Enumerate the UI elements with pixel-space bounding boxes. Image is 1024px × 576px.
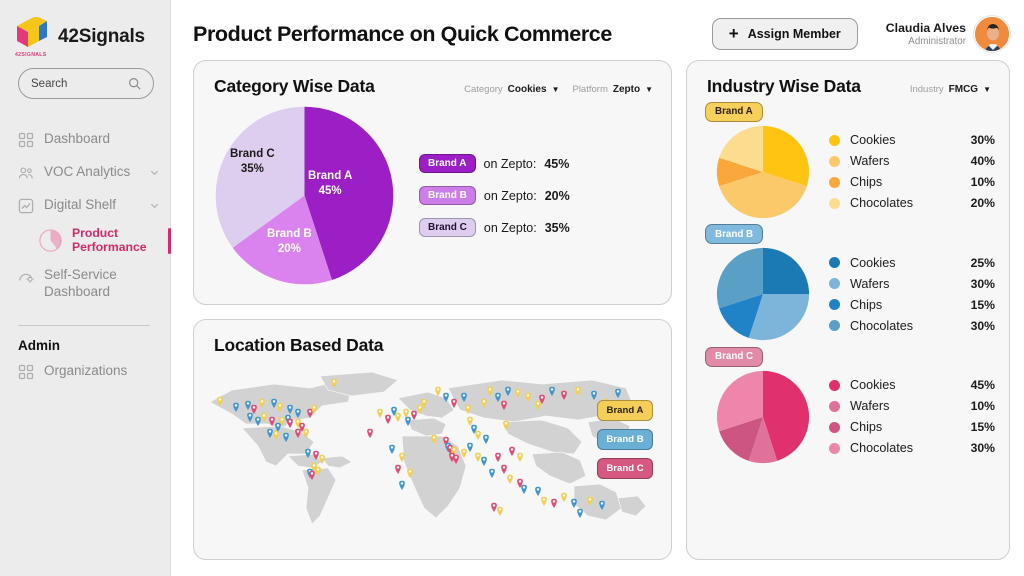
industry-brand-row: Cookies45%Wafers10%Chips15%Chocolates30% (705, 369, 995, 465)
map-pin-a[interactable] (467, 417, 473, 426)
map-pin-a[interactable] (517, 453, 523, 462)
map-pin-b[interactable] (389, 445, 395, 454)
grid-icon (18, 132, 34, 148)
industry-legend: Cookies25%Wafers30%Chips15%Chocolates30% (829, 256, 995, 333)
industry-pie-chart (715, 124, 811, 220)
brand-badge[interactable]: Brand B (705, 224, 763, 244)
map-pin-a[interactable] (475, 431, 481, 440)
map-pin-c[interactable] (491, 503, 497, 512)
legend-color-dot (829, 320, 840, 331)
industry-legend: Cookies30%Wafers40%Chips10%Chocolates20% (829, 133, 995, 210)
legend-percent: 15% (971, 298, 995, 312)
map-legend-brand-c[interactable]: Brand C (597, 458, 653, 479)
legend-row: Chocolates30% (829, 441, 995, 455)
legend-label: Chips (850, 175, 882, 189)
grid-icon (18, 364, 34, 380)
user-name: Claudia Alves (886, 21, 966, 35)
world-map[interactable]: Brand A Brand B Brand C (194, 358, 671, 543)
map-pin-b[interactable] (521, 485, 527, 494)
industry-filters: Industry FMCG ▼ (910, 84, 991, 95)
42signals-logo-icon: 42SIGNALS (14, 17, 50, 57)
chart-line-icon (18, 198, 34, 214)
map-landmass (532, 452, 586, 484)
people-icon (18, 165, 34, 181)
legend-row: Cookies30% (829, 133, 995, 147)
industry-pie-chart (715, 246, 811, 342)
legend-label: Wafers (850, 154, 889, 168)
search-icon (128, 77, 141, 90)
filter-value: FMCG (949, 84, 978, 95)
sidebar-item-self-service-dashboard[interactable]: Self-Service Dashboard (0, 259, 170, 309)
pie-slice-label-brand-b: Brand B20% (267, 227, 312, 257)
legend-percent: 25% (971, 256, 995, 270)
map-pin-a[interactable] (395, 413, 401, 422)
category-pie-chart: Brand A45% Brand B20% Brand C35% (212, 103, 397, 288)
legend-row: Chips15% (829, 298, 995, 312)
brand-logo-row[interactable]: 42SIGNALS 42Signals (0, 10, 170, 60)
dashboard-content: Category Wise Data Category Cookies ▼ Pl… (193, 60, 1010, 560)
pie-slice-label-brand-a: Brand A45% (308, 169, 352, 199)
industry-card-header: Industry Wise Data Industry FMCG ▼ (687, 61, 1009, 97)
legend-row: Wafers40% (829, 154, 995, 168)
search-placeholder: Search (31, 78, 67, 90)
filter-label: Industry (910, 84, 944, 95)
legend-row: Chips15% (829, 420, 995, 434)
industry-pie-chart (715, 369, 811, 465)
user-role: Administrator (886, 36, 966, 47)
map-pin-a[interactable] (561, 493, 567, 502)
category-card-header: Category Wise Data Category Cookies ▼ Pl… (194, 61, 671, 97)
location-based-data-card: Location Based Data Brand A Brand B Bran… (193, 319, 672, 560)
brand-name: 42Signals (58, 26, 145, 48)
category-card-body: Brand A45% Brand B20% Brand C35% Brand A… (194, 97, 671, 288)
category-filter-dropdown[interactable]: Category Cookies ▼ (464, 84, 559, 95)
search-input[interactable]: Search (18, 68, 154, 99)
legend-percent: 30% (971, 441, 995, 455)
pie-icon (38, 228, 63, 253)
sidebar-item-label: Digital Shelf (44, 197, 116, 214)
category-filters: Category Cookies ▼ Platform Zepto ▼ (464, 84, 653, 95)
legend-percent: 45% (971, 378, 995, 392)
legend-percent: 40% (971, 154, 995, 168)
legend-label: Chocolates (850, 196, 913, 210)
legend-row: Chocolates20% (829, 196, 995, 210)
chevron-down-icon[interactable] (149, 199, 160, 210)
right-column: Industry Wise Data Industry FMCG ▼ Brand… (686, 60, 1010, 560)
pie-slice (763, 248, 809, 294)
legend-percent: 20% (545, 189, 570, 203)
map-pin-b[interactable] (571, 499, 577, 508)
platform-filter-dropdown[interactable]: Platform Zepto ▼ (572, 84, 653, 95)
legend-color-dot (829, 380, 840, 391)
legend-label: Chips (850, 420, 882, 434)
plus-icon: + (729, 25, 739, 42)
sidebar-item-digital-shelf[interactable]: Digital Shelf (0, 189, 170, 222)
legend-label: Cookies (850, 133, 896, 147)
legend-color-dot (829, 299, 840, 310)
map-pin-c[interactable] (367, 429, 373, 438)
page-title: Product Performance on Quick Commerce (193, 22, 612, 47)
map-pin-a[interactable] (507, 475, 513, 484)
map-landmass (407, 418, 446, 436)
legend-color-dot (829, 135, 840, 146)
legend-text: on Zepto: (484, 221, 537, 235)
legend-percent: 20% (971, 196, 995, 210)
map-pin-a[interactable] (377, 409, 383, 418)
industry-brand-block: Brand BCookies25%Wafers30%Chips15%Chocol… (687, 220, 1009, 343)
map-pin-c[interactable] (287, 419, 293, 428)
legend-color-dot (829, 257, 840, 268)
legend-percent: 15% (971, 420, 995, 434)
brand-badge: Brand B (419, 186, 476, 205)
logo-caption: 42SIGNALS (15, 52, 47, 58)
app-root: 42SIGNALS 42Signals Search Dashboa (0, 0, 1024, 576)
legend-row: Wafers30% (829, 277, 995, 291)
map-legend: Brand A Brand B Brand C (597, 400, 653, 479)
dashboard-gear-icon (18, 268, 34, 284)
chevron-down-icon: ▼ (645, 85, 653, 94)
filter-value: Cookies (508, 84, 547, 95)
map-landmass (322, 456, 352, 468)
brand-badge[interactable]: Brand C (705, 347, 763, 367)
main-content: Product Performance on Quick Commerce + … (171, 0, 1024, 576)
map-pin-b[interactable] (535, 487, 541, 496)
industry-brand-block: Brand CCookies45%Wafers10%Chips15%Chocol… (687, 342, 1009, 465)
map-legend-brand-b[interactable]: Brand B (597, 429, 653, 450)
sidebar-item-label: Organizations (44, 363, 127, 380)
industry-brand-row: Cookies25%Wafers30%Chips15%Chocolates30% (705, 246, 995, 342)
industry-brand-blocks: Brand ACookies30%Wafers40%Chips10%Chocol… (687, 97, 1009, 465)
legend-text: on Zepto: (484, 157, 537, 171)
map-pin-c[interactable] (551, 499, 557, 508)
sidebar-item-product-performance[interactable]: Product Performance (0, 222, 170, 259)
sidebar-item-label: VOC Analytics (44, 164, 130, 181)
chevron-down-icon: ▼ (983, 85, 991, 94)
map-pin-b[interactable] (467, 443, 473, 452)
sidebar-item-label: Self-Service Dashboard (44, 267, 160, 301)
legend-color-dot (829, 198, 840, 209)
industry-brand-row: Cookies30%Wafers40%Chips10%Chocolates20% (705, 124, 995, 220)
brand-badge[interactable]: Brand A (705, 102, 763, 122)
map-landmass (302, 468, 336, 524)
legend-row: Chips10% (829, 175, 995, 189)
sidebar-item-label: Product Performance (72, 226, 160, 255)
location-card-header: Location Based Data (194, 320, 671, 356)
map-pin-c[interactable] (495, 453, 501, 462)
avatar[interactable] (974, 16, 1010, 52)
legend-color-dot (829, 443, 840, 454)
map-pin-a[interactable] (541, 497, 547, 506)
legend-row: Brand B on Zepto: 20% (419, 186, 570, 205)
map-pin-c[interactable] (395, 465, 401, 474)
map-pin-b[interactable] (577, 509, 583, 518)
legend-percent: 30% (971, 277, 995, 291)
legend-row: Brand A on Zepto: 45% (419, 154, 570, 173)
legend-row: Chocolates30% (829, 319, 995, 333)
map-pin-b[interactable] (483, 435, 489, 444)
legend-label: Wafers (850, 277, 889, 291)
map-pin-b[interactable] (489, 469, 495, 478)
legend-label: Chips (850, 298, 882, 312)
map-legend-brand-a[interactable]: Brand A (597, 400, 653, 421)
brand-badge: Brand A (419, 154, 476, 173)
industry-brand-block: Brand ACookies30%Wafers40%Chips10%Chocol… (687, 97, 1009, 220)
sidebar-section-admin: Admin (0, 326, 170, 355)
category-card-title: Category Wise Data (214, 76, 375, 97)
legend-label: Cookies (850, 256, 896, 270)
legend-label: Cookies (850, 378, 896, 392)
sidebar-item-label: Dashboard (44, 131, 110, 148)
legend-color-dot (829, 156, 840, 167)
map-pin-a[interactable] (497, 507, 503, 516)
industry-legend: Cookies45%Wafers10%Chips15%Chocolates30% (829, 378, 995, 455)
pie-slice-label-brand-c: Brand C35% (230, 147, 275, 177)
map-pin-c[interactable] (509, 447, 515, 456)
sidebar-item-organizations[interactable]: Organizations (0, 355, 170, 388)
legend-percent: 30% (971, 319, 995, 333)
location-card-title: Location Based Data (214, 335, 383, 356)
legend-percent: 10% (971, 175, 995, 189)
brand-badge: Brand C (419, 218, 476, 237)
legend-row: Brand C on Zepto: 35% (419, 218, 570, 237)
legend-label: Chocolates (850, 319, 913, 333)
chevron-down-icon[interactable] (149, 166, 160, 177)
industry-filter-dropdown[interactable]: Industry FMCG ▼ (910, 84, 991, 95)
legend-color-dot (829, 422, 840, 433)
sidebar-nav: Dashboard VOC Analytics (0, 123, 170, 388)
user-profile[interactable]: Claudia Alves Administrator (886, 16, 1010, 52)
map-pin-a[interactable] (403, 409, 409, 418)
legend-row: Wafers10% (829, 399, 995, 413)
map-pin-b[interactable] (255, 417, 261, 426)
legend-label: Chocolates (850, 441, 913, 455)
filter-value: Zepto (613, 84, 640, 95)
industry-wise-data-card: Industry Wise Data Industry FMCG ▼ Brand… (686, 60, 1010, 560)
sidebar-item-dashboard[interactable]: Dashboard (0, 123, 170, 156)
map-pin-c[interactable] (501, 465, 507, 474)
sidebar-item-voc-analytics[interactable]: VOC Analytics (0, 156, 170, 189)
map-pin-c[interactable] (385, 415, 391, 424)
legend-color-dot (829, 177, 840, 188)
left-column: Category Wise Data Category Cookies ▼ Pl… (193, 60, 672, 560)
map-landmass (618, 496, 646, 516)
assign-member-button[interactable]: + Assign Member (712, 18, 858, 50)
category-wise-data-card: Category Wise Data Category Cookies ▼ Pl… (193, 60, 672, 305)
map-pin-b[interactable] (481, 457, 487, 466)
map-pin-b[interactable] (399, 481, 405, 490)
chevron-down-icon: ▼ (552, 85, 560, 94)
legend-percent: 10% (971, 399, 995, 413)
top-bar: Product Performance on Quick Commerce + … (193, 8, 1010, 60)
category-legend: Brand A on Zepto: 45% Brand B on Zepto: … (419, 154, 570, 237)
filter-label: Category (464, 84, 503, 95)
sidebar: 42SIGNALS 42Signals Search Dashboa (0, 0, 171, 576)
legend-color-dot (829, 401, 840, 412)
legend-text: on Zepto: (484, 189, 537, 203)
legend-color-dot (829, 278, 840, 289)
user-text: Claudia Alves Administrator (886, 21, 966, 47)
assign-member-label: Assign Member (748, 27, 841, 41)
map-pin-c[interactable] (411, 411, 417, 420)
industry-card-title: Industry Wise Data (707, 76, 861, 97)
map-pin-a[interactable] (475, 453, 481, 462)
legend-percent: 35% (545, 221, 570, 235)
legend-label: Wafers (850, 399, 889, 413)
legend-percent: 30% (971, 133, 995, 147)
filter-label: Platform (572, 84, 607, 95)
legend-percent: 45% (544, 157, 569, 171)
legend-row: Cookies45% (829, 378, 995, 392)
legend-row: Cookies25% (829, 256, 995, 270)
